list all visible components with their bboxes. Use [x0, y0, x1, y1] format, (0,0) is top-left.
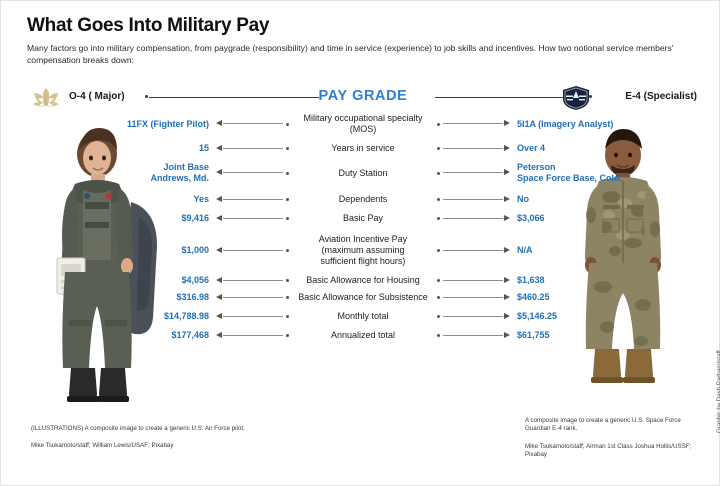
connector-line — [223, 316, 283, 317]
comparison-row: $4,056Basic Allowance for Housing$1,638 — [27, 275, 699, 286]
row-label: Basic Allowance for Housing — [291, 275, 435, 286]
connector-left — [215, 214, 291, 224]
connector-line — [443, 297, 503, 298]
row-label: Dependents — [291, 194, 435, 205]
connector-left — [215, 293, 291, 303]
row-value-left: $14,788.98 — [27, 311, 215, 322]
arrow-left-icon — [216, 247, 222, 253]
comparison-row: Joint BaseAndrews, Md.Duty StationPeters… — [27, 162, 699, 184]
row-value-right: Over 4 — [511, 143, 699, 154]
connector-left — [215, 168, 291, 178]
connector-right — [435, 293, 511, 303]
arrow-left-icon — [216, 313, 222, 319]
row-value-left: $1,000 — [27, 245, 215, 256]
caption-right: A composite image to create a generic U.… — [525, 417, 705, 460]
connector-right — [435, 168, 511, 178]
row-value-right: N/A — [511, 245, 699, 256]
connector-left — [215, 246, 291, 256]
connector-left — [215, 312, 291, 322]
arrow-left-icon — [216, 332, 222, 338]
connector-line — [223, 172, 283, 173]
connector-left — [215, 119, 291, 129]
connector-dot — [437, 123, 440, 126]
connector-dot — [286, 198, 289, 201]
paygrade-right-label: E-4 (Specialist) — [625, 91, 697, 102]
row-value-right: $5,146.25 — [511, 311, 699, 322]
connector-dot — [437, 279, 440, 282]
arrow-right-icon — [504, 277, 510, 283]
connector-line — [443, 123, 503, 124]
row-label: Annualized total — [291, 330, 435, 341]
row-value-right: $61,755 — [511, 330, 699, 341]
arrow-right-icon — [504, 215, 510, 221]
connector-dot — [286, 217, 289, 220]
connector-dot — [286, 279, 289, 282]
comparison-row: $316.98Basic Allowance for Subsistence$4… — [27, 292, 699, 303]
connector-left — [215, 144, 291, 154]
row-value-right: PetersonSpace Force Base, Colo. — [511, 162, 699, 184]
connector-dot — [286, 123, 289, 126]
infographic-frame: What Goes Into Military Pay Many factors… — [0, 0, 720, 486]
comparison-row: YesDependentsNo — [27, 194, 699, 205]
connector-dot — [437, 315, 440, 318]
row-value-right: $1,638 — [511, 275, 699, 286]
row-value-right: $460.25 — [511, 292, 699, 303]
connector-dot — [286, 334, 289, 337]
row-label: Basic Allowance for Subsistence — [291, 292, 435, 303]
caption-left-credit: Mike Tsukamoto/staff; William Lewis/USAF… — [31, 442, 246, 450]
arrow-right-icon — [504, 145, 510, 151]
connector-dot — [437, 172, 440, 175]
arrow-left-icon — [216, 277, 222, 283]
caption-right-credit: Mike Tsukamoto/staff; Airman 1st Class J… — [525, 443, 705, 460]
connector-line — [443, 172, 503, 173]
comparison-rows: 11FX (Fighter Pilot)Military occupationa… — [27, 113, 699, 341]
row-value-left: 15 — [27, 143, 215, 154]
row-value-left: 11FX (Fighter Pilot) — [27, 119, 215, 130]
row-label: Duty Station — [291, 168, 435, 179]
caption-left: (ILLUSTRATIONS) A composite image to cre… — [31, 425, 246, 451]
connector-dot — [286, 249, 289, 252]
row-value-left: $177,468 — [27, 330, 215, 341]
connector-dot — [437, 217, 440, 220]
connector-dot — [286, 296, 289, 299]
connector-line — [223, 335, 283, 336]
comparison-row: 11FX (Fighter Pilot)Military occupationa… — [27, 113, 699, 135]
connector-line — [223, 148, 283, 149]
row-label: Monthly total — [291, 311, 435, 322]
space-force-specialist-insignia-icon — [561, 85, 591, 111]
connector-right — [435, 331, 511, 341]
arrow-right-icon — [504, 332, 510, 338]
arrow-left-icon — [216, 169, 222, 175]
connector-line — [443, 335, 503, 336]
connector-left — [215, 276, 291, 286]
row-value-right: 5I1A (Imagery Analyst) — [511, 119, 699, 130]
arrow-right-icon — [504, 294, 510, 300]
arrow-right-icon — [504, 196, 510, 202]
caption-right-text: A composite image to create a generic U.… — [525, 417, 705, 434]
comparison-row: $177,468Annualized total$61,755 — [27, 330, 699, 341]
row-value-left: Joint BaseAndrews, Md. — [27, 162, 215, 184]
row-value-right: $3,066 — [511, 213, 699, 224]
connector-line — [223, 280, 283, 281]
connector-right — [435, 312, 511, 322]
arrow-right-icon — [504, 169, 510, 175]
connector-line — [443, 148, 503, 149]
arrow-left-icon — [216, 215, 222, 221]
connector-line — [223, 123, 283, 124]
connector-dot — [437, 334, 440, 337]
page-subtitle: Many factors go into military compensati… — [27, 43, 699, 66]
connector-dot — [437, 249, 440, 252]
row-value-left: $9,416 — [27, 213, 215, 224]
connector-line — [443, 218, 503, 219]
comparison-row: $14,788.98Monthly total$5,146.25 — [27, 311, 699, 322]
comparison-row: 15Years in serviceOver 4 — [27, 143, 699, 154]
connector-dot — [437, 147, 440, 150]
connector-line — [223, 297, 283, 298]
connector-dot — [286, 172, 289, 175]
comparison-row: $1,000Aviation Incentive Pay(maximum ass… — [27, 234, 699, 267]
row-label: Basic Pay — [291, 213, 435, 224]
comparison-row: $9,416Basic Pay$3,066 — [27, 213, 699, 224]
row-value-right: No — [511, 194, 699, 205]
connector-right — [435, 119, 511, 129]
connector-right — [435, 276, 511, 286]
arrow-right-icon — [504, 247, 510, 253]
connector-line — [223, 250, 283, 251]
connector-line — [443, 280, 503, 281]
row-value-left: $4,056 — [27, 275, 215, 286]
arrow-left-icon — [216, 196, 222, 202]
row-label: Years in service — [291, 143, 435, 154]
connector-line — [223, 218, 283, 219]
arrow-right-icon — [504, 313, 510, 319]
connector-right — [435, 144, 511, 154]
connector-left — [215, 195, 291, 205]
connector-right — [435, 195, 511, 205]
paygrade-section-title: PAY GRADE — [27, 88, 699, 104]
connector-line — [223, 199, 283, 200]
arrow-left-icon — [216, 120, 222, 126]
caption-left-text: (ILLUSTRATIONS) A composite image to cre… — [31, 425, 246, 433]
connector-dot — [286, 315, 289, 318]
connector-dot — [286, 147, 289, 150]
row-value-left: $316.98 — [27, 292, 215, 303]
row-value-left: Yes — [27, 194, 215, 205]
arrow-left-icon — [216, 145, 222, 151]
connector-line — [443, 199, 503, 200]
arrow-right-icon — [504, 120, 510, 126]
row-label: Military occupational specialty (MOS) — [291, 113, 435, 135]
connector-dot — [437, 198, 440, 201]
connector-right — [435, 214, 511, 224]
row-label: Aviation Incentive Pay(maximum assumings… — [291, 234, 435, 267]
connector-line — [443, 316, 503, 317]
connector-right — [435, 246, 511, 256]
paygrade-header-row: O-4 ( Major) PAY GRADE E-4 (Specialist) — [27, 85, 699, 111]
arrow-left-icon — [216, 294, 222, 300]
connector-left — [215, 331, 291, 341]
connector-dot — [437, 296, 440, 299]
connector-line — [443, 250, 503, 251]
page-title: What Goes Into Military Pay — [27, 15, 269, 37]
graphic-credit-vertical: Graphic by Dash Parham/staff — [716, 323, 720, 433]
